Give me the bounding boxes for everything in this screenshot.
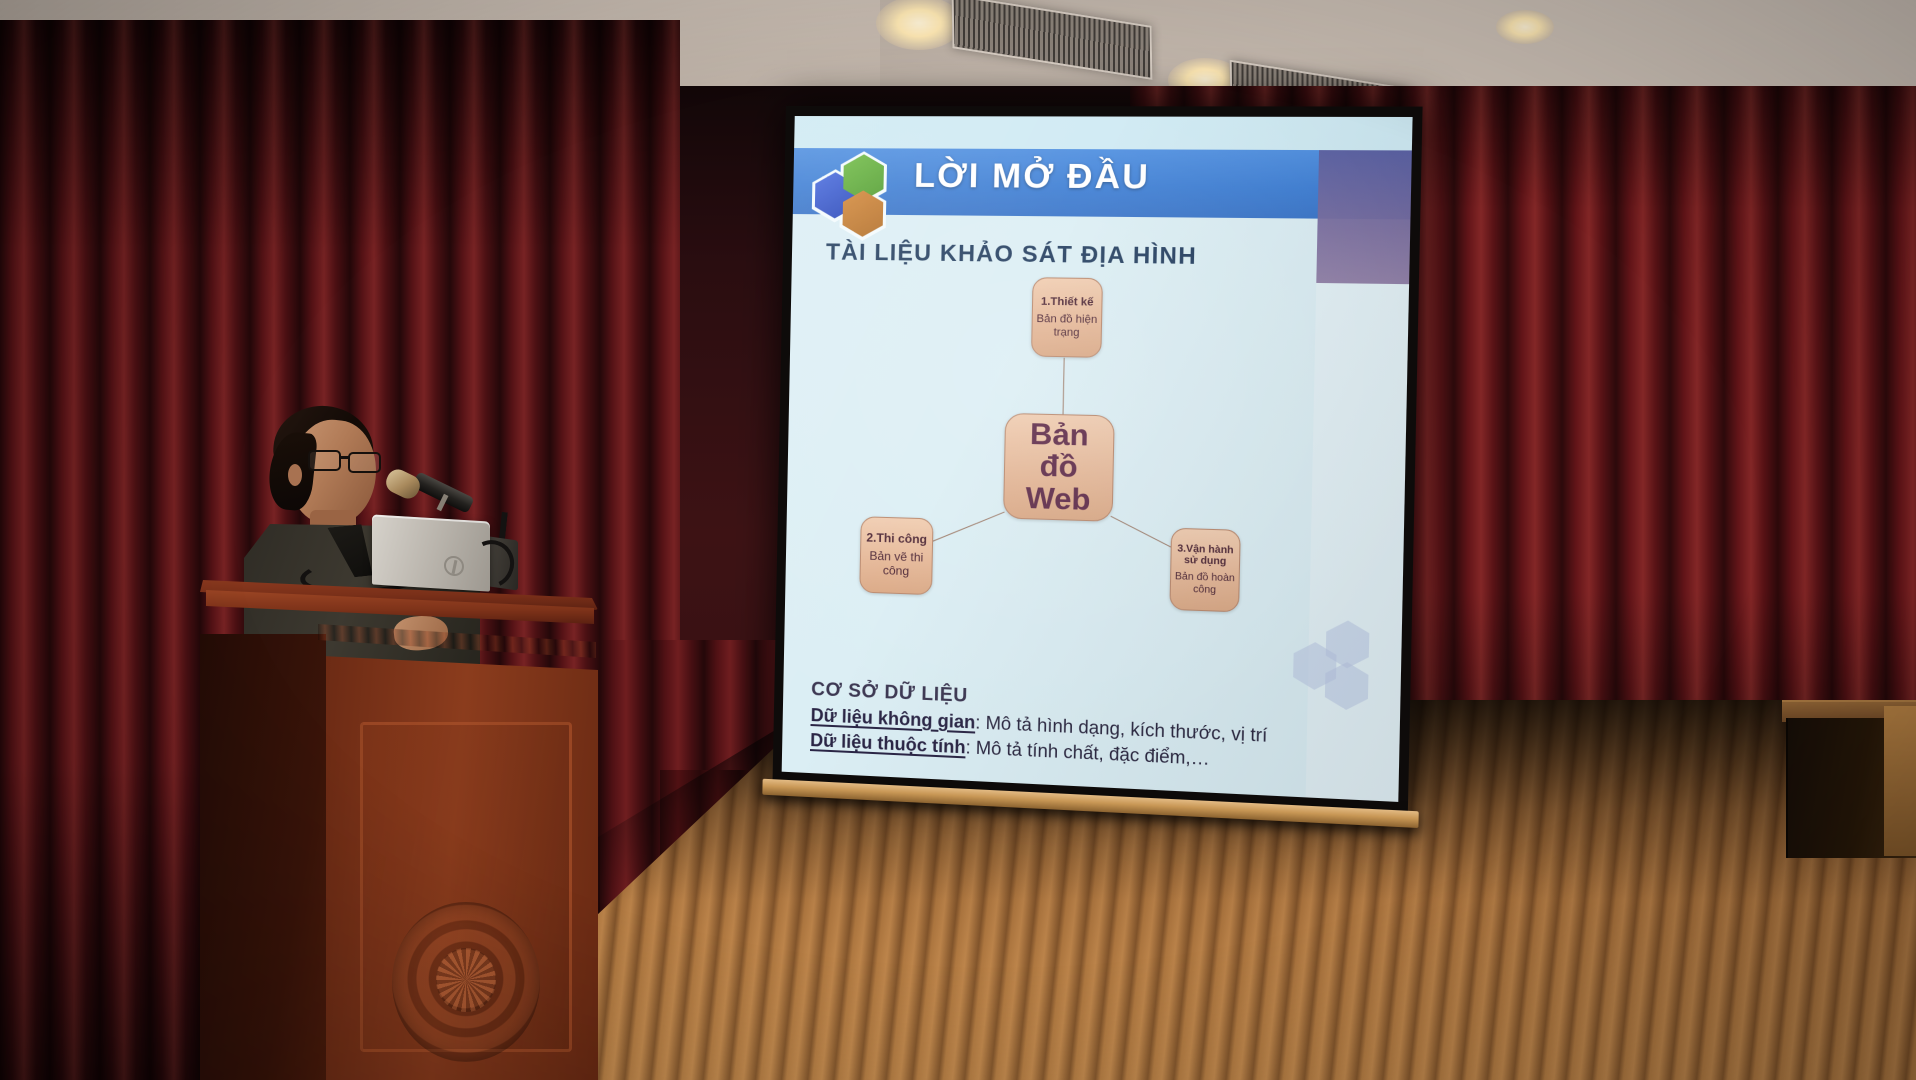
projection-screen-surface: LỜI MỞ ĐẦU TÀI LIỆU KHẢO SÁT ĐỊA HÌNH 1.… [782, 116, 1413, 802]
node-van-hanh[interactable]: 3.Vận hành sử dụng Bản đồ hoàn công [1169, 528, 1240, 613]
node-thi-cong[interactable]: 2.Thi công Bản vẽ thi công [859, 516, 933, 595]
wooden-podium [200, 576, 598, 1080]
node-thiet-ke-sub: Bản đồ hiện trạng [1032, 313, 1101, 340]
projection-screen-frame: LỜI MỞ ĐẦU TÀI LIỆU KHẢO SÁT ĐỊA HÌNH 1.… [772, 106, 1422, 817]
slide-right-panel [1305, 283, 1409, 802]
presenter-ear [288, 464, 302, 486]
slide-title: LỜI MỞ ĐẦU [914, 157, 1151, 198]
database-row-spatial-label: Dữ liệu không gian [811, 705, 976, 733]
glasses-lens-left [308, 450, 341, 471]
podium-seal-center-icon [436, 948, 496, 1012]
slide-top-band [794, 116, 1412, 150]
slide-subtitle: TÀI LIỆU KHẢO SÁT ĐỊA HÌNH [826, 238, 1198, 270]
node-van-hanh-title: 3.Vận hành sử dụng [1171, 543, 1239, 568]
microphone-head-icon [382, 466, 423, 502]
glasses-lens-right [348, 452, 381, 473]
hexagon-logo [814, 152, 906, 235]
glasses-icon [308, 450, 384, 472]
node-ban-do-web-line3: Web [1025, 482, 1091, 516]
node-thiet-ke-title: 1.Thiết kế [1041, 295, 1094, 308]
node-ban-do-web[interactable]: Bản đồ Web [1003, 413, 1115, 522]
node-thi-cong-title: 2.Thi công [866, 531, 927, 546]
node-thi-cong-sub: Bản vẽ thi công [861, 550, 932, 580]
node-ban-do-web-line2: đồ [1039, 451, 1078, 484]
database-row-spatial-sep: : [975, 712, 986, 733]
slide-header-accent [1316, 150, 1412, 284]
corner-hexagon-decoration [1292, 614, 1402, 718]
node-ban-do-web-line1: Bản [1030, 419, 1089, 452]
downlight-icon [1496, 10, 1554, 44]
podium-left-face [200, 634, 326, 1080]
node-van-hanh-sub: Bản đồ hoàn công [1171, 571, 1239, 597]
node-thiet-ke[interactable]: 1.Thiết kế Bản đồ hiện trạng [1031, 277, 1103, 358]
glasses-bridge [341, 456, 350, 459]
podium-carved-band [318, 618, 596, 658]
wooden-cabinet-side [1884, 706, 1916, 856]
projection-screen: LỜI MỞ ĐẦU TÀI LIỆU KHẢO SÁT ĐỊA HÌNH 1.… [772, 106, 1422, 817]
hp-logo-icon [444, 555, 464, 576]
screenshot-root: LỜI MỞ ĐẦU TÀI LIỆU KHẢO SÁT ĐỊA HÌNH 1.… [0, 0, 1916, 1080]
microphone-body [411, 471, 474, 513]
database-row-attribute-sep: : [965, 737, 976, 758]
